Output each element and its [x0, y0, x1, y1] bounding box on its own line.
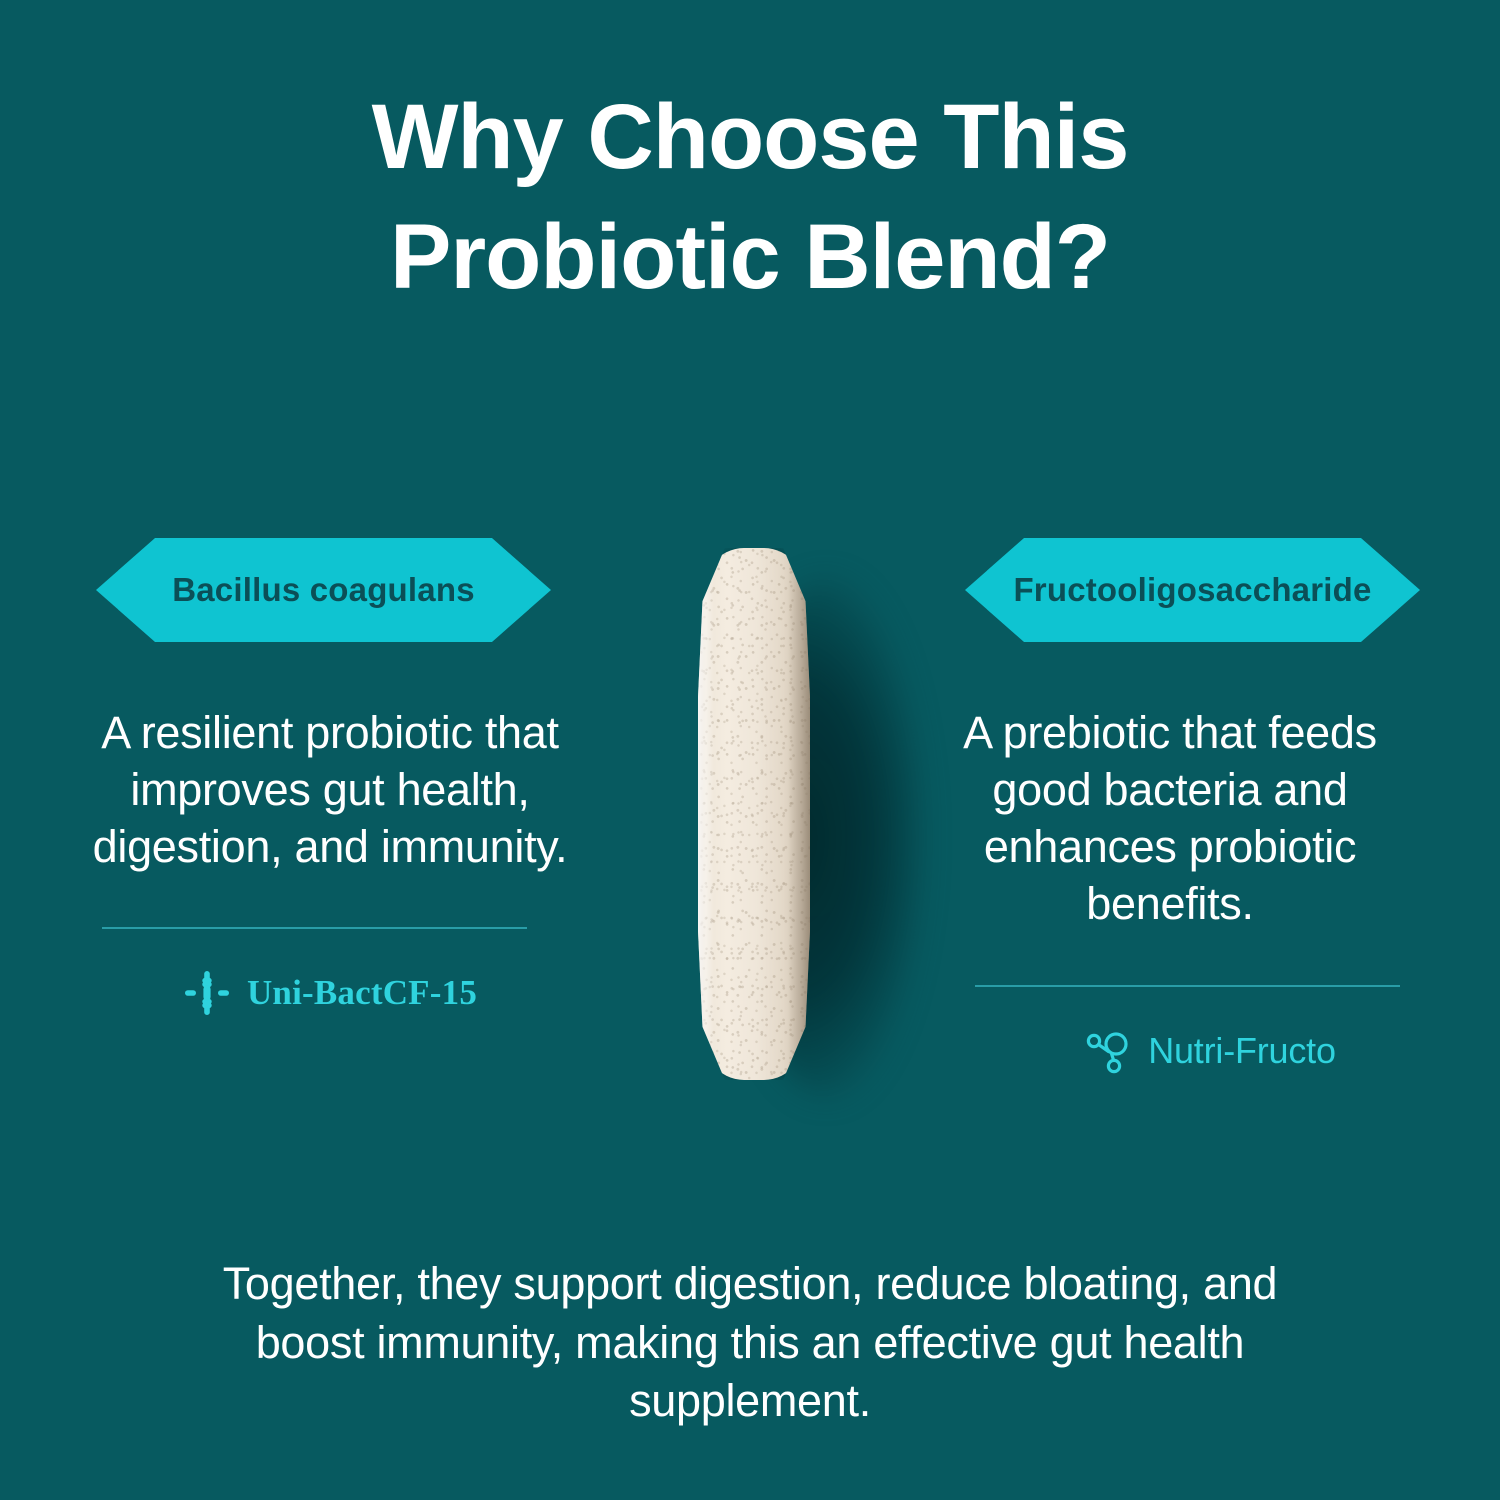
ingredient-badge-bacillus-coagulans: Bacillus coagulans — [96, 538, 551, 642]
tablet-body — [698, 548, 810, 1080]
badge-label: Fructooligosaccharide — [1013, 571, 1371, 609]
brand-name: Uni-BactCF-15 — [247, 973, 477, 1013]
page-title: Why Choose This Probiotic Blend? — [0, 78, 1500, 317]
summary-paragraph: Together, they support digestion, reduce… — [190, 1255, 1310, 1431]
radial-burst-icon — [183, 969, 231, 1017]
badge-label: Bacillus coagulans — [172, 571, 475, 609]
tablet-texture — [698, 548, 810, 1080]
brand-name: Nutri-Fructo — [1148, 1030, 1336, 1072]
ingredient-description: A prebiotic that feeds good bacteria and… — [920, 704, 1420, 933]
ingredient-column-left: Bacillus coagulans A resilient probiotic… — [80, 538, 580, 1017]
ingredient-description: A resilient probiotic that improves gut … — [80, 704, 580, 875]
brand-row: Nutri-Fructo — [960, 1027, 1460, 1075]
ingredient-badge-fructooligosaccharide: Fructooligosaccharide — [965, 538, 1420, 642]
product-tablet-image — [620, 520, 960, 1120]
column-divider — [975, 985, 1400, 987]
page-title-line-1: Why Choose This — [372, 86, 1129, 188]
ingredient-column-right: Fructooligosaccharide A prebiotic that f… — [920, 538, 1420, 1075]
page-title-line-2: Probiotic Blend? — [0, 198, 1500, 318]
infographic-canvas: Why Choose This Probiotic Blend? Bacillu… — [0, 0, 1500, 1500]
brand-row: Uni-BactCF-15 — [80, 969, 580, 1017]
column-divider — [102, 927, 527, 929]
molecule-icon — [1084, 1027, 1132, 1075]
